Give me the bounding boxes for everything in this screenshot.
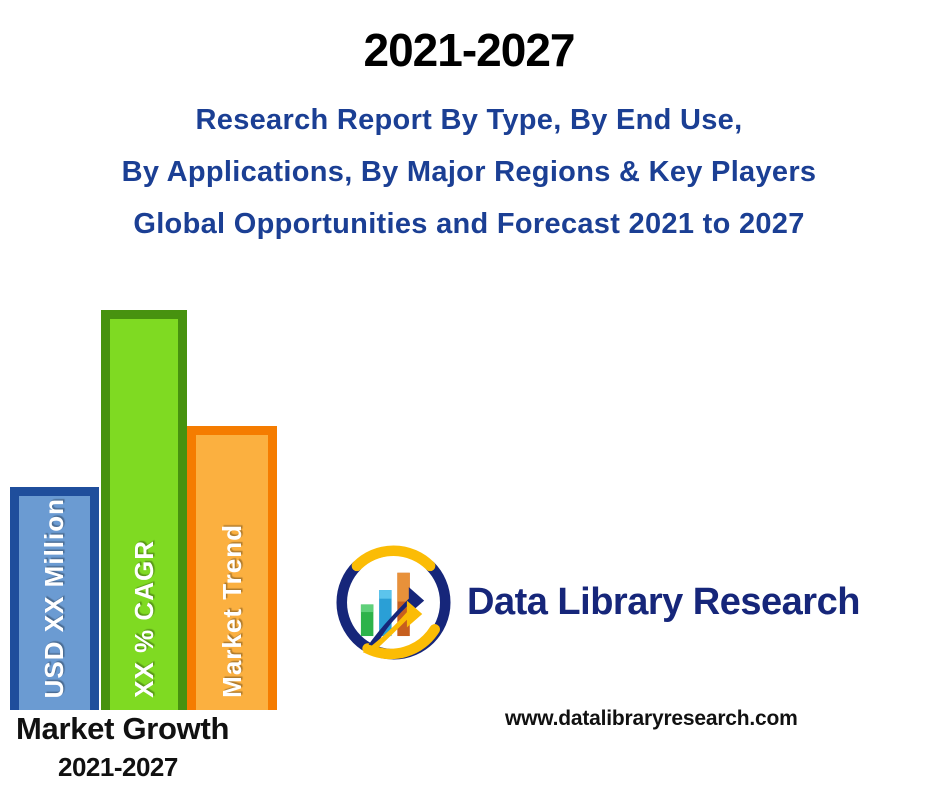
brand-name: Data Library Research: [467, 581, 860, 624]
brand-logo-block: Data Library Research: [336, 542, 866, 662]
subtitle-line-2: By Applications, By Major Regions & Key …: [0, 158, 938, 187]
bar-market-trend: Market Trend: [187, 426, 277, 710]
bar-market-trend-fill: Market Trend: [196, 435, 268, 710]
report-cover-canvas: 2021-2027 Research Report By Type, By En…: [0, 0, 938, 788]
page-title: 2021-2027: [0, 27, 938, 73]
bar-cagr: XX % CAGR: [101, 310, 187, 710]
bar-cagr-label-wrap: XX % CAGR: [110, 319, 178, 710]
bar-market-trend-label-wrap: Market Trend: [196, 435, 268, 710]
bar-usd-million-fill: USD XX Million: [19, 496, 90, 710]
bar-usd-million: USD XX Million: [10, 487, 99, 710]
website-url: www.datalibraryresearch.com: [505, 707, 798, 731]
bar-usd-million-label: USD XX Million: [39, 498, 70, 698]
bar-cagr-fill: XX % CAGR: [110, 319, 178, 710]
subtitle-line-1: Research Report By Type, By End Use,: [0, 106, 938, 135]
subtitle-line-3: Global Opportunities and Forecast 2021 t…: [0, 210, 938, 239]
market-growth-bar-chart: USD XX Million XX % CAGR Market Trend: [0, 290, 300, 710]
circular-growth-chart-arrow-logo-icon: [336, 545, 451, 660]
bar-usd-million-label-wrap: USD XX Million: [19, 496, 90, 710]
chart-caption-years: 2021-2027: [58, 752, 178, 783]
bar-cagr-label: XX % CAGR: [129, 540, 160, 698]
chart-caption-title: Market Growth: [16, 711, 229, 747]
header-block: 2021-2027 Research Report By Type, By En…: [0, 0, 938, 260]
bar-market-trend-label: Market Trend: [217, 524, 248, 698]
